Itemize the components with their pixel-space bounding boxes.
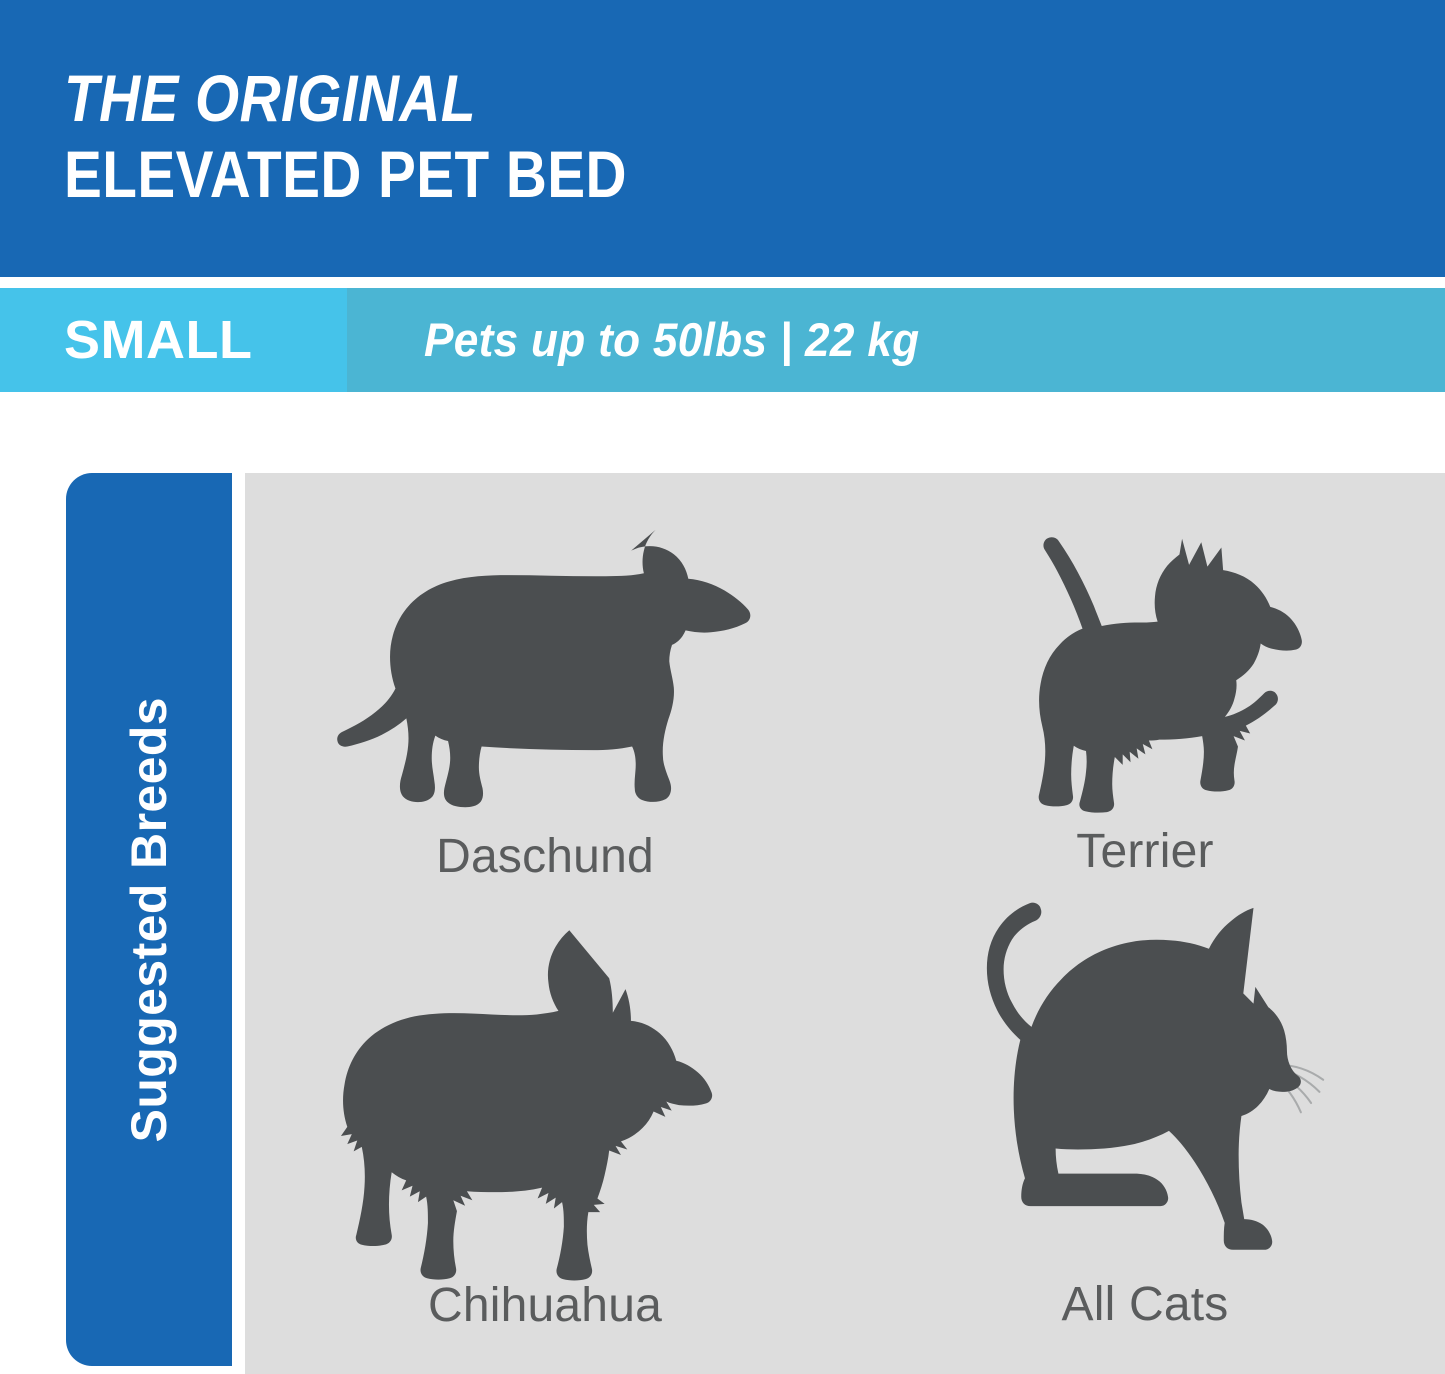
breed-label: Daschund (436, 830, 654, 884)
suggested-breeds-panel: Daschund Terrier Chihuahua (245, 473, 1445, 1374)
weight-capacity-panel: Pets up to 50lbs | 22 kg (347, 288, 1445, 392)
weight-capacity-label: Pets up to 50lbs | 22 kg (424, 315, 919, 365)
header-title-block: THE ORIGINAL ELEVATED PET BED (64, 62, 1264, 212)
dachshund-silhouette-icon (332, 518, 758, 790)
size-badge-label: SMALL (64, 312, 252, 368)
suggested-breeds-sidebar-label: Suggested Breeds (123, 697, 175, 1142)
breed-item-chihuahua: Chihuahua (245, 924, 845, 1374)
breed-item-all-cats: All Cats (845, 924, 1445, 1374)
breed-item-daschund: Daschund (245, 473, 845, 924)
header-banner: THE ORIGINAL ELEVATED PET BED (0, 0, 1445, 277)
pet-bed-size-infographic: THE ORIGINAL ELEVATED PET BED SMALL Pets… (0, 0, 1445, 1374)
page-title-line1: THE ORIGINAL (64, 62, 1096, 134)
breed-label: All Cats (1062, 1278, 1229, 1332)
size-badge: SMALL (0, 288, 347, 392)
page-title-line2: ELEVATED PET BED (64, 136, 1096, 212)
breed-label: Terrier (1076, 825, 1213, 879)
breed-label: Chihuahua (428, 1279, 662, 1333)
cat-silhouette-icon (959, 972, 1331, 1260)
size-band: SMALL Pets up to 50lbs | 22 kg (0, 288, 1445, 392)
suggested-breeds-sidebar: Suggested Breeds (66, 473, 232, 1366)
breed-item-terrier: Terrier (845, 473, 1445, 924)
breed-grid: Daschund Terrier Chihuahua (245, 473, 1445, 1374)
terrier-silhouette-icon (962, 523, 1329, 785)
chihuahua-silhouette-icon (350, 971, 740, 1261)
